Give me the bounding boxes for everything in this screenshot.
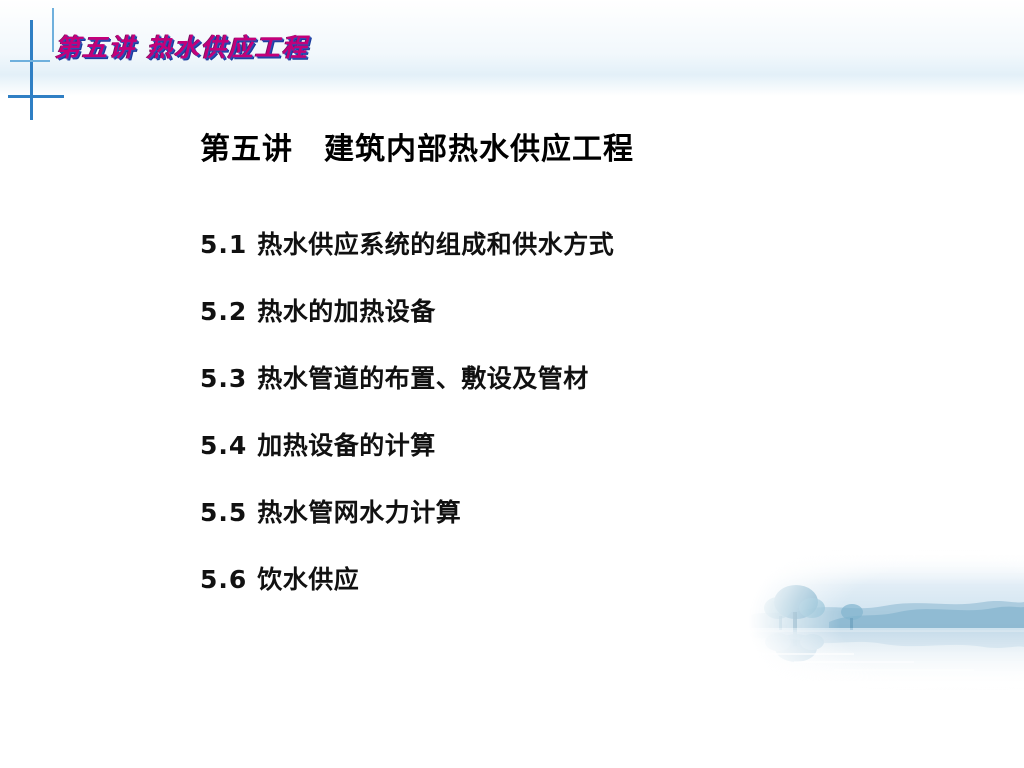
list-item-number: 5.5: [200, 498, 247, 527]
list-item: 5.1热水供应系统的组成和供水方式: [200, 232, 840, 258]
list-item: 5.5热水管网水力计算: [200, 500, 840, 526]
list-item-label: 饮水供应: [257, 566, 359, 594]
header-title: 第五讲 热水供应工程: [55, 28, 309, 64]
list-item-label: 热水的加热设备: [257, 298, 436, 326]
list-item: 5.3热水管道的布置、敷设及管材: [200, 366, 840, 392]
list-item-label: 热水管道的布置、敷设及管材: [257, 365, 589, 393]
decor-horizontal-line-secondary: [10, 60, 50, 62]
list-item-number: 5.1: [200, 230, 247, 259]
list-item-label: 热水管网水力计算: [257, 499, 461, 527]
slide-canvas: 第五讲 热水供应工程 第五讲 建筑内部热水供应工程 5.1热水供应系统的组成和供…: [0, 0, 1024, 768]
list-item: 5.4加热设备的计算: [200, 433, 840, 459]
list-item-label: 热水供应系统的组成和供水方式: [257, 231, 614, 259]
list-item-number: 5.3: [200, 364, 247, 393]
decor-horizontal-line: [8, 95, 64, 98]
list-item-number: 5.6: [200, 565, 247, 594]
list-item-number: 5.2: [200, 297, 247, 326]
decor-vertical-line: [30, 20, 33, 120]
list-item-label: 加热设备的计算: [257, 432, 436, 460]
page-title: 第五讲 建筑内部热水供应工程: [200, 124, 634, 168]
decor-vertical-line-secondary: [52, 8, 54, 52]
lake-decoration-image: [734, 550, 1024, 710]
list-item-number: 5.4: [200, 431, 247, 460]
list-item: 5.2热水的加热设备: [200, 299, 840, 325]
